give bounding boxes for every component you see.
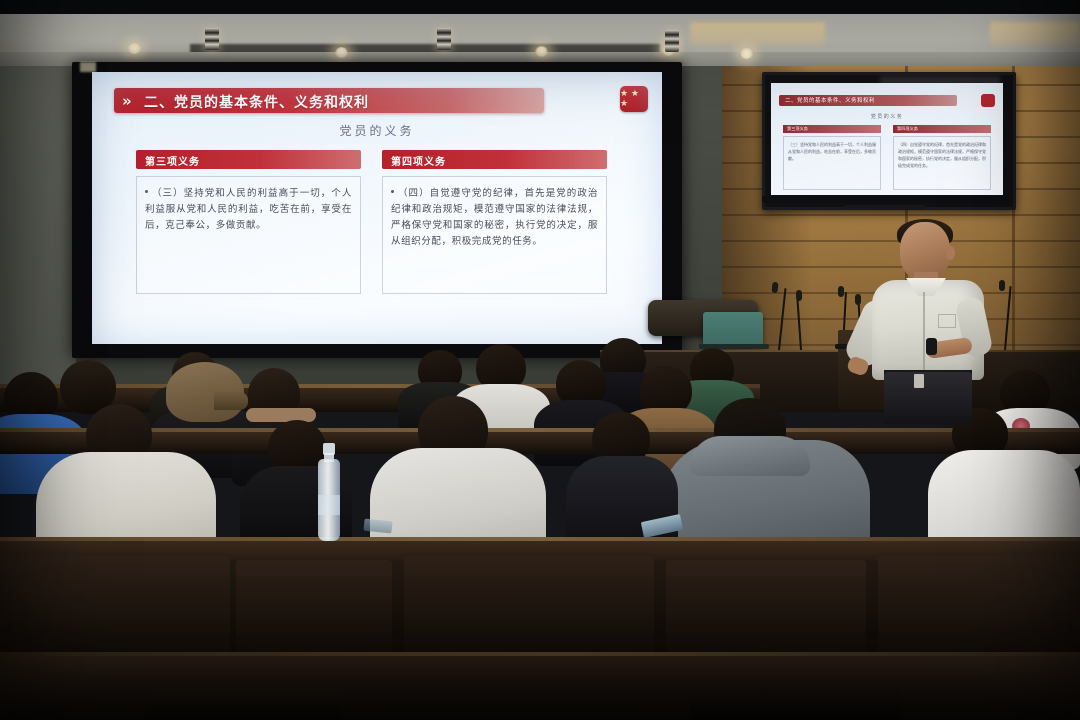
seat-back — [404, 556, 654, 664]
chevron-right-icon: » — [122, 92, 129, 110]
microphone-head-icon — [796, 290, 802, 301]
monitor-bottom-bezel — [762, 196, 1010, 203]
bottle-label — [318, 495, 340, 515]
monitor-heading-3: 第三项义务 — [783, 125, 881, 133]
track-light-icon — [205, 28, 219, 50]
presenter-shirt-placket — [923, 292, 925, 370]
seat-back — [0, 556, 230, 666]
wristwatch-icon — [926, 338, 937, 355]
slide-title: 二、党员的基本条件、义务和权利 — [144, 92, 369, 112]
slide-title-bar: » 二、党员的基本条件、义务和权利 — [114, 88, 544, 113]
presenter-trousers — [884, 372, 972, 424]
presenter — [866, 222, 996, 412]
column-heading-4: 第四项义务 — [382, 150, 607, 169]
presenter-ear — [946, 246, 955, 260]
monitor-mount — [845, 205, 925, 210]
cap-brim — [214, 392, 248, 410]
smartphone-2 — [363, 519, 392, 534]
monitor-column-left: 第三项义务 （三）坚持党和人民的利益高于一切，个人利益服从党和人民的利益，吃苦在… — [783, 125, 881, 190]
left-wall — [0, 60, 76, 400]
downlight-icon — [335, 47, 348, 58]
microphone-head-icon — [999, 280, 1005, 291]
slide-subtitle: 党员的义务 — [92, 122, 662, 139]
slide-column-right: 第四项义务 （四）自觉遵守党的纪律，首先是党的政治纪律和政治规矩，模范遵守国家的… — [382, 150, 607, 294]
column-text-4: （四）自觉遵守党的纪律，首先是党的政治纪律和政治规矩，模范遵守国家的法律法规，严… — [391, 186, 598, 250]
party-emblem-badge: ★ ★ ★ — [620, 86, 648, 112]
seat-back — [236, 560, 392, 664]
hood — [690, 436, 810, 476]
ceiling-warm-light-2 — [990, 22, 1080, 46]
monitor-text-3: （三）坚持党和人民的利益高于一切，个人利益服从党和人民的利益，吃苦在前，享受在后… — [783, 136, 881, 190]
monitor-title: 二、党员的基本条件、义务和权利 — [785, 96, 875, 104]
badge-stars: ★ ★ ★ — [620, 89, 648, 109]
monitor-column-right: 第四项义务 （四）自觉遵守党的纪律，首先是党的政治纪律和政治规矩，模范遵守国家的… — [893, 125, 991, 190]
shoulders — [246, 408, 316, 422]
monitor-text-4: （四）自觉遵守党的纪律，首先是党的政治纪律和政治规矩，模范遵守国家的法律法规，严… — [893, 136, 991, 190]
column-text-3: （三）坚持党和人民的利益高于一切，个人利益服从党和人民的利益，吃苦在前，享受在后… — [145, 186, 352, 234]
microphone-head-icon — [855, 294, 861, 305]
id-badge — [914, 374, 924, 388]
bullet-icon — [145, 190, 148, 193]
chair-foreground-2 — [690, 686, 900, 720]
downlight-icon — [740, 48, 753, 59]
column-body-3: （三）坚持党和人民的利益高于一切，个人利益服从党和人民的利益，吃苦在前，享受在后… — [136, 176, 361, 294]
slide-column-left: 第三项义务 （三）坚持党和人民的利益高于一切，个人利益服从党和人民的利益，吃苦在… — [136, 150, 361, 294]
lecture-hall-photo: » 二、党员的基本条件、义务和权利 ★ ★ ★ 党员的义务 第三项义务 （三）坚… — [0, 0, 1080, 720]
presenter-shirt-pocket — [938, 314, 956, 328]
screen-top-highlight — [80, 62, 96, 72]
track-light-icon — [665, 30, 679, 52]
desk-row-3 — [0, 430, 1080, 454]
laptop — [703, 312, 763, 346]
column-heading-3: 第三项义务 — [136, 150, 361, 169]
presentation-slide: » 二、党员的基本条件、义务和权利 ★ ★ ★ 党员的义务 第三项义务 （三）坚… — [92, 72, 662, 344]
water-bottle — [318, 443, 340, 541]
wall-monitor-screen: 二、党员的基本条件、义务和权利 党员的义务 第三项义务 （三）坚持党和人民的利益… — [771, 83, 1003, 195]
track-light-icon — [437, 28, 451, 50]
column-body-4: （四）自觉遵守党的纪律，首先是党的政治纪律和政治规矩，模范遵守国家的法律法规，严… — [382, 176, 607, 294]
desk-row-3-edge — [0, 428, 1080, 432]
microphone-head-icon — [838, 286, 844, 297]
ceiling-warm-light-1 — [690, 22, 825, 46]
downlight-icon — [535, 46, 548, 57]
bullet-icon — [391, 190, 394, 193]
chair-foreground — [150, 688, 340, 720]
seat-back — [666, 560, 866, 664]
monitor-subtitle: 党员的义务 — [771, 113, 1003, 120]
monitor-heading-4: 第四项义务 — [893, 125, 991, 133]
desk-row-2-edge — [0, 537, 1080, 541]
monitor-glare — [880, 76, 1000, 86]
downlight-icon — [128, 43, 141, 54]
seat-back — [878, 556, 1080, 666]
monitor-badge-icon — [981, 94, 995, 107]
wall-monitor: 二、党员的基本条件、义务和权利 党员的义务 第三项义务 （三）坚持党和人民的利益… — [762, 72, 1016, 210]
